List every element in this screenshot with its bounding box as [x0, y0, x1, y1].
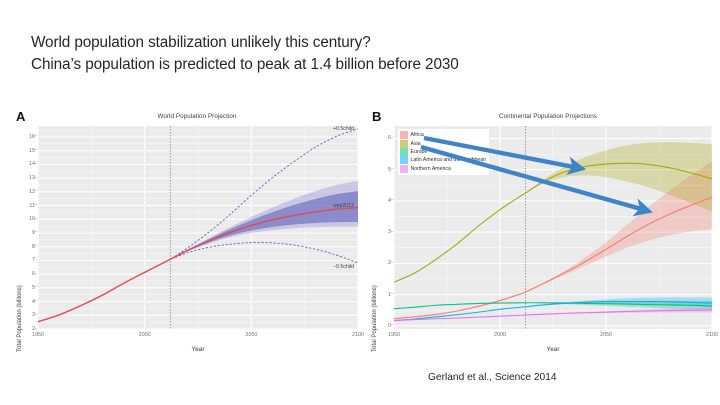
slide: World population stabilization unlikely … [0, 0, 720, 405]
panel-a-ytick: 10 [22, 216, 35, 222]
panel-a-ytick: 7 [22, 257, 35, 263]
panel-a-annotation: −0.5child [333, 264, 354, 270]
legend-swatch-icon [400, 131, 408, 139]
panel-a-ytick: 4 [22, 299, 35, 305]
panel-a-ytick-mark: – [35, 229, 38, 235]
panel-a-ytick: 3 [22, 312, 35, 318]
panel-b-ytick: 4 [379, 198, 391, 204]
panel-a-ytick: 11 [22, 203, 35, 209]
panel-b-ytick-mark: – [391, 135, 394, 141]
panel-b-ytick-mark: – [391, 322, 394, 328]
panel-b-ytick-mark: – [391, 166, 394, 172]
panel-b-xtick: 1950 [382, 332, 406, 338]
panel-b-ylabel: Total Population (billions) [372, 285, 378, 352]
panel-b-xtick: 2000 [488, 332, 512, 338]
legend-swatch-icon [400, 140, 408, 148]
legend-swatch-icon [400, 156, 408, 164]
panel-b-ytick: 1 [379, 292, 391, 298]
panel-b-legend: AfricaAsiaEuropeLatin America and the Ca… [398, 129, 489, 175]
panel-b-xlabel: Year [394, 346, 712, 353]
title-line-2: China’s population is predicted to peak … [31, 54, 671, 76]
panel-a-ytick: 15 [22, 148, 35, 154]
panel-a-ytick-mark: – [35, 133, 38, 139]
slide-title: World population stabilization unlikely … [31, 32, 671, 76]
panel-b-xtick: 2100 [700, 332, 720, 338]
panel-a: A World Population Projection Total Popu… [8, 104, 364, 366]
panel-a-xtick: 1950 [26, 332, 50, 338]
legend-label: Asia [411, 140, 421, 148]
legend-item-africa[interactable]: Africa [400, 131, 486, 139]
legend-item-europe[interactable]: Europe [400, 148, 486, 156]
figure: A World Population Projection Total Popu… [0, 104, 720, 366]
panel-a-xlabel: Year [38, 346, 358, 353]
title-line-1: World population stabilization unlikely … [31, 32, 671, 54]
panel-a-ytick-mark: – [35, 147, 38, 153]
panel-a-ytick-mark: – [35, 175, 38, 181]
panel-b-ytick-mark: – [391, 197, 394, 203]
panel-a-ytick: 5 [22, 285, 35, 291]
panel-a-ytick: 6 [22, 271, 35, 277]
panel-a-ytick-mark: – [35, 271, 38, 277]
panel-b-ytick: 3 [379, 229, 391, 235]
legend-label: Africa [411, 131, 424, 139]
legend-label: Northern America [411, 165, 451, 173]
panel-a-ytick: 8 [22, 244, 35, 250]
panel-b-ytick: 0 [379, 323, 391, 329]
panel-a-plot [38, 126, 358, 329]
panel-a-title: World Population Projection [8, 113, 364, 120]
panel-a-ytick-mark: – [35, 257, 38, 263]
panel-a-ytick-mark: – [35, 312, 38, 318]
panel-b: B Continental Population Projections Tot… [366, 104, 716, 366]
panel-a-annotation: +0.5child [333, 126, 354, 132]
legend-item-northern-america[interactable]: Northern America [400, 165, 486, 173]
panel-a-svg [38, 126, 358, 329]
panel-a-ytick-mark: – [35, 216, 38, 222]
panel-b-title: Continental Population Projections [366, 113, 716, 120]
panel-b-ytick-mark: – [391, 260, 394, 266]
legend-label: Europe [411, 148, 428, 156]
panel-a-ytick-mark: – [35, 202, 38, 208]
panel-a-annotation: wpp2012 [333, 203, 354, 209]
panel-b-ytick-mark: – [391, 291, 394, 297]
panel-b-xtick: 2050 [594, 332, 618, 338]
legend-item-latin-america-and-the-caribbean[interactable]: Latin America and the Caribbean [400, 156, 486, 164]
panel-a-ytick-mark: – [35, 284, 38, 290]
panel-b-ytick: 6 [379, 135, 391, 141]
legend-item-asia[interactable]: Asia [400, 139, 486, 147]
panel-a-ytick: 14 [22, 161, 35, 167]
panel-a-ytick-mark: – [35, 188, 38, 194]
panel-a-xtick: 2050 [239, 332, 263, 338]
panel-b-ytick: 5 [379, 167, 391, 173]
panel-a-ytick-mark: – [35, 298, 38, 304]
panel-a-ytick: 12 [22, 189, 35, 195]
panel-a-ylabel: Total Population (billions) [17, 285, 23, 352]
legend-swatch-icon [400, 148, 408, 156]
panel-a-ytick: 13 [22, 175, 35, 181]
panel-a-xtick: 2000 [133, 332, 157, 338]
panel-a-ytick: 9 [22, 230, 35, 236]
legend-swatch-icon [400, 165, 408, 173]
panel-a-ytick-mark: – [35, 326, 38, 332]
panel-a-ytick: 16 [22, 134, 35, 140]
panel-b-ytick: 2 [379, 260, 391, 266]
panel-b-ytick-mark: – [391, 229, 394, 235]
source-credit: Gerland et al., Science 2014 [428, 372, 557, 383]
legend-label: Latin America and the Caribbean [411, 156, 487, 164]
panel-a-ytick-mark: – [35, 243, 38, 249]
panel-a-ytick-mark: – [35, 161, 38, 167]
